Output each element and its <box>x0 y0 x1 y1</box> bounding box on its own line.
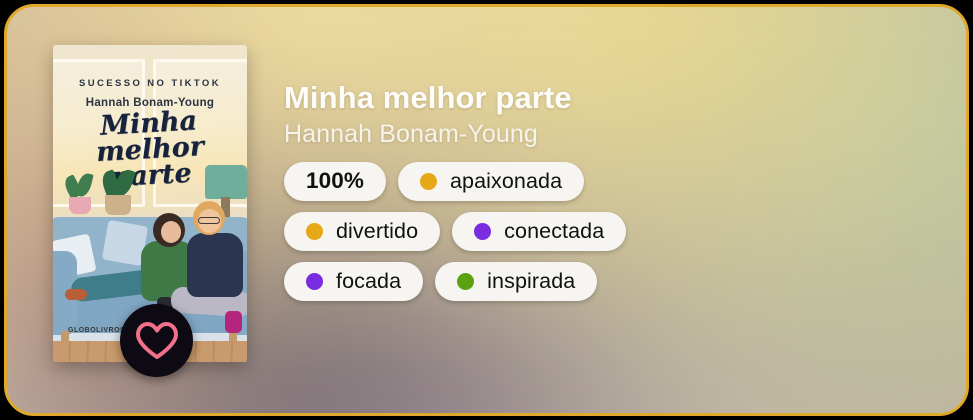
book-author: Hannah Bonam-Young <box>284 121 924 149</box>
book-summary-card: SUCESSO NO TIKTOK Hannah Bonam-Young Min… <box>4 4 969 416</box>
mood-tag-label: focada <box>336 269 401 294</box>
mood-tag-label: inspirada <box>487 269 575 294</box>
mood-color-dot-icon <box>474 223 491 240</box>
woman-shoe <box>65 289 87 300</box>
flower-pot-icon <box>69 197 91 214</box>
heart-icon <box>135 321 179 361</box>
mood-tag-list: 100%apaixonadadivertidoconectadafocadain… <box>284 162 924 301</box>
mood-tag-pill[interactable]: conectada <box>452 212 626 251</box>
eyeglasses-icon <box>198 217 220 224</box>
mood-color-dot-icon <box>306 223 323 240</box>
flower-pot-icon <box>105 195 131 215</box>
mood-color-dot-icon <box>420 173 437 190</box>
man-sock <box>225 311 242 333</box>
mood-tag-row: focadainspirada <box>284 262 924 301</box>
mood-tag-label: apaixonada <box>450 169 562 194</box>
mood-color-dot-icon <box>457 273 474 290</box>
mood-tag-label: divertido <box>336 219 418 244</box>
book-title: Minha melhor parte <box>284 81 924 114</box>
mood-tag-pill[interactable]: focada <box>284 262 423 301</box>
cover-kicker-text: SUCESSO NO TIKTOK <box>53 78 247 89</box>
lamp-shade <box>205 165 247 199</box>
mood-color-dot-icon <box>306 273 323 290</box>
publisher-logo: GLOBOLIVROS <box>68 327 125 334</box>
woman-face <box>161 221 181 243</box>
mood-tag-row: divertidoconectada <box>284 212 924 251</box>
mood-tag-label: conectada <box>504 219 604 244</box>
match-percentage-pill[interactable]: 100% <box>284 162 386 201</box>
mood-tag-row: 100%apaixonada <box>284 162 924 201</box>
book-info-column: Minha melhor parte Hannah Bonam-Young 10… <box>284 81 924 312</box>
mood-tag-label: 100% <box>306 168 364 194</box>
favorite-heart-badge[interactable] <box>120 304 193 377</box>
mood-tag-pill[interactable]: inspirada <box>435 262 597 301</box>
mood-tag-pill[interactable]: divertido <box>284 212 440 251</box>
man-body <box>187 233 243 297</box>
mood-tag-pill[interactable]: apaixonada <box>398 162 584 201</box>
